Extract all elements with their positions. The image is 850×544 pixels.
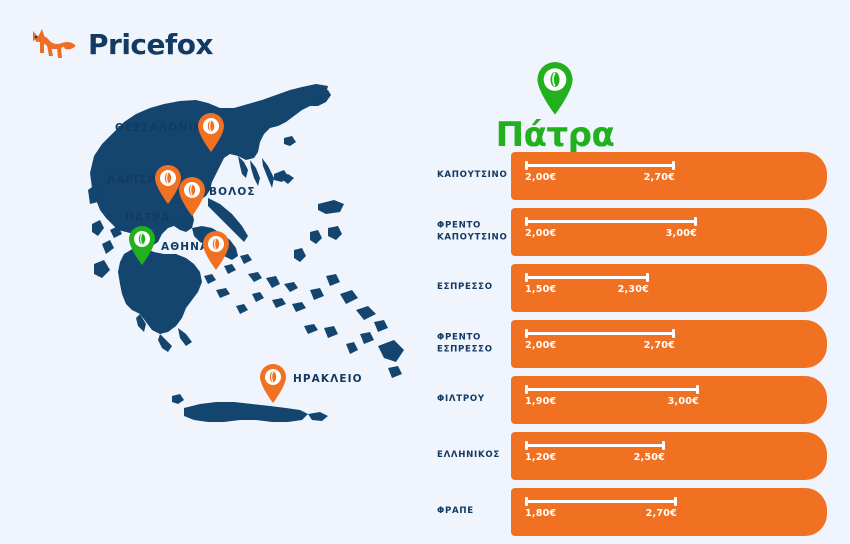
range-cap-max: [694, 217, 697, 226]
price-range: 1,20€ 2,50€: [525, 444, 665, 468]
price-row[interactable]: ΦΙΛΤΡΟΥ 1,90€ 3,00€: [437, 376, 827, 424]
price-max: 2,70€: [644, 172, 675, 183]
range-cap-min: [525, 441, 528, 450]
price-row-label: ΦΡΕΝΤΟΚΑΠΟΥΤΣΙΝΟ: [437, 220, 505, 243]
range-cap-max: [672, 161, 675, 170]
price-min: 2,00€: [525, 340, 556, 351]
price-min: 1,50€: [525, 284, 556, 295]
price-range: 2,00€ 2,70€: [525, 332, 675, 356]
price-row-label: ΦΙΛΤΡΟΥ: [437, 394, 505, 406]
price-min: 1,80€: [525, 508, 556, 519]
price-min: 1,90€: [525, 396, 556, 407]
price-row[interactable]: ΦΡΑΠΕ 1,80€ 2,70€: [437, 488, 827, 536]
range-line: [525, 220, 697, 223]
range-line: [525, 444, 665, 447]
price-max: 3,00€: [668, 396, 699, 407]
price-min: 1,20€: [525, 452, 556, 463]
range-cap-min: [525, 273, 528, 282]
price-row[interactable]: ΚΑΠΟΥΤΣΙΝΟ 2,00€ 2,70€: [437, 152, 827, 200]
range-line: [525, 500, 677, 503]
range-cap-min: [525, 217, 528, 226]
price-range: 1,50€ 2,30€: [525, 276, 649, 300]
range-line: [525, 164, 675, 167]
range-cap-max: [646, 273, 649, 282]
range-cap-max: [696, 385, 699, 394]
map-pin-athina[interactable]: [201, 231, 231, 271]
range-cap-min: [525, 161, 528, 170]
price-range: 1,90€ 3,00€: [525, 388, 699, 412]
price-row-label: ΦΡΕΝΤΟΕΣΠΡΕΣΣΟ: [437, 332, 505, 355]
range-line: [525, 332, 675, 335]
range-cap-max: [674, 497, 677, 506]
price-range: 1,80€ 2,70€: [525, 500, 677, 524]
price-row[interactable]: ΦΡΕΝΤΟΚΑΠΟΥΤΣΙΝΟ 2,00€ 3,00€: [437, 208, 827, 256]
price-range: 2,00€ 3,00€: [525, 220, 697, 244]
map-pin-patra[interactable]: [127, 226, 157, 266]
range-line: [525, 388, 699, 391]
selected-city-name: Πάτρα: [495, 118, 615, 152]
price-max: 2,70€: [644, 340, 675, 351]
price-row[interactable]: ΦΡΕΝΤΟΕΣΠΡΕΣΣΟ 2,00€ 2,70€: [437, 320, 827, 368]
map-label-irakleio: ΗΡΑΚΛΕΙΟ: [293, 373, 363, 385]
range-cap-max: [662, 441, 665, 450]
coffee-bean-pin-icon: [534, 62, 576, 116]
map-label-volos: ΒΟΛΟΣ: [209, 186, 256, 198]
range-cap-min: [525, 329, 528, 338]
map-label-larisa: ΛΑΡΙΣΑ: [107, 174, 157, 186]
range-cap-min: [525, 385, 528, 394]
price-row[interactable]: ΕΛΛΗΝΙΚΟΣ 1,20€ 2,50€: [437, 432, 827, 480]
selected-city-header: Πάτρα: [495, 62, 615, 152]
price-min: 2,00€: [525, 228, 556, 239]
price-panel: Πάτρα ΚΑΠΟΥΤΣΙΝΟ 2,00€ 2,70€ ΦΡΕΝΤΟΚΑΠΟΥ…: [437, 62, 827, 462]
price-row-label: ΕΛΛΗΝΙΚΟΣ: [437, 450, 505, 462]
price-range: 2,00€ 2,70€: [525, 164, 675, 188]
price-max: 2,50€: [634, 452, 665, 463]
price-row-label: ΦΡΑΠΕ: [437, 506, 505, 518]
price-rows: ΚΑΠΟΥΤΣΙΝΟ 2,00€ 2,70€ ΦΡΕΝΤΟΚΑΠΟΥΤΣΙΝΟ: [437, 152, 827, 544]
price-max: 2,70€: [646, 508, 677, 519]
range-line: [525, 276, 649, 279]
range-cap-min: [525, 497, 528, 506]
map-pin-thessaloniki[interactable]: [196, 113, 226, 153]
map-pin-irakleio[interactable]: [258, 364, 288, 404]
price-row[interactable]: ΕΣΠΡΕΣΣΟ 1,50€ 2,30€: [437, 264, 827, 312]
greece-map-shape: [88, 78, 433, 463]
brand-name: Pricefox: [88, 31, 213, 59]
infographic-canvas: Pricefox: [0, 0, 850, 478]
price-row-label: ΚΑΠΟΥΤΣΙΝΟ: [437, 170, 505, 182]
map-label-patra: ΠΑΤΡΑ: [125, 212, 170, 224]
brand-logo[interactable]: Pricefox: [30, 25, 213, 65]
price-max: 3,00€: [666, 228, 697, 239]
greece-map[interactable]: ΘΕΣΣΑΛΟΝΙΚΗ ΛΑΡΙΣΑ ΒΟΛΟΣ ΠΑΤΡΑ: [88, 78, 433, 463]
price-min: 2,00€: [525, 172, 556, 183]
price-row-label: ΕΣΠΡΕΣΣΟ: [437, 282, 505, 294]
fox-icon: [30, 25, 78, 65]
range-cap-max: [672, 329, 675, 338]
price-max: 2,30€: [618, 284, 649, 295]
map-pin-volos[interactable]: [177, 177, 207, 217]
